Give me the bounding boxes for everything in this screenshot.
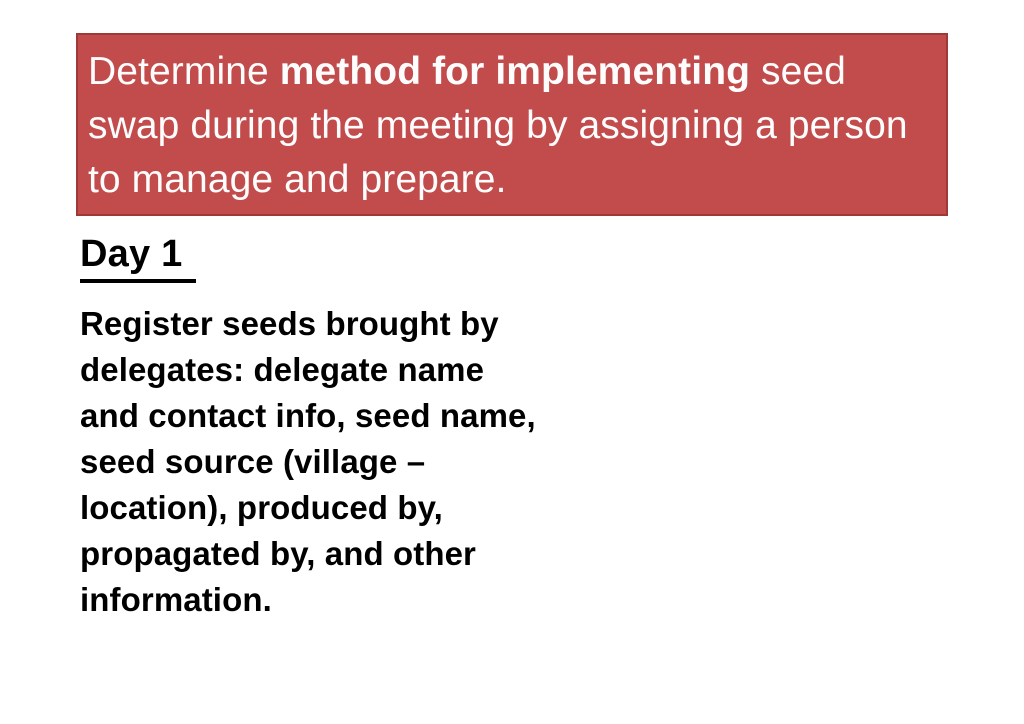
body-line: information. [80, 577, 640, 623]
body-line: Register seeds brought by [80, 301, 640, 347]
day-heading-wrapper: Day 1 [80, 230, 700, 283]
body-paragraph: Register seeds brought by delegates: del… [80, 301, 640, 623]
banner-title-segment-bold: method for implementing [280, 50, 750, 93]
body-content: Day 1 Register seeds brought by delegate… [80, 230, 700, 623]
body-line: delegates: delegate name [80, 347, 640, 393]
body-line: propagated by, and other [80, 531, 640, 577]
slide-canvas: Determine method for implementing seed s… [0, 0, 1024, 724]
body-line: and contact info, seed name, [80, 393, 640, 439]
day-heading: Day 1 [80, 230, 196, 283]
body-line: location), produced by, [80, 485, 640, 531]
banner-title-segment-regular-1: Determine [88, 50, 280, 93]
banner-title: Determine method for implementing seed s… [88, 45, 934, 207]
title-banner: Determine method for implementing seed s… [76, 33, 948, 216]
body-line: seed source (village – [80, 439, 640, 485]
